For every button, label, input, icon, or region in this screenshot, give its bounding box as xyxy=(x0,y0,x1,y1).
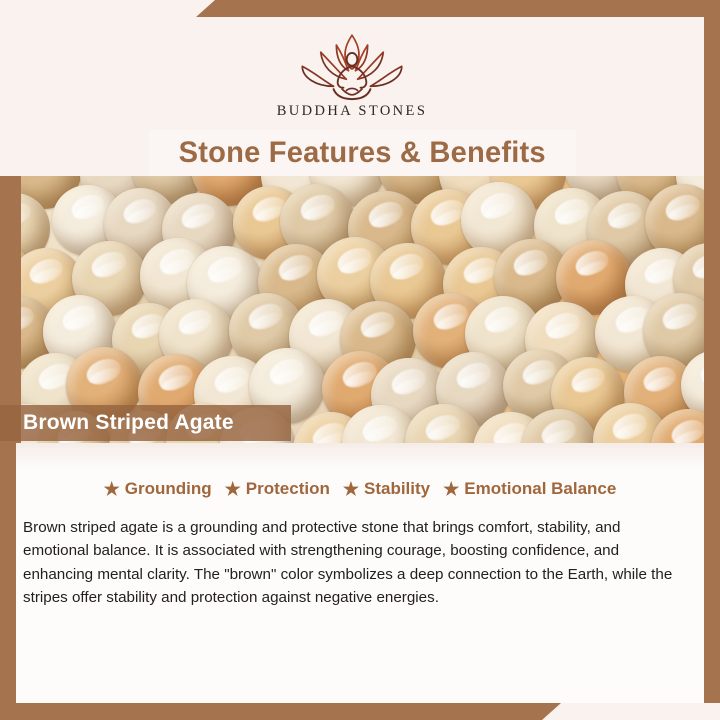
panel-top-fade xyxy=(16,443,704,469)
page-title: Stone Features & Benefits xyxy=(179,136,546,170)
star-icon: ★ xyxy=(343,480,359,498)
benefit-item: ★Emotional Balance xyxy=(443,479,616,499)
content-left-accent xyxy=(0,443,16,703)
stone-name: Brown Striped Agate xyxy=(23,411,234,435)
bottom-accent-banner xyxy=(0,703,561,720)
content-right-accent xyxy=(704,443,720,703)
benefit-item: ★Grounding xyxy=(104,479,212,499)
top-accent-banner xyxy=(196,0,720,17)
photo-left-accent-bar xyxy=(0,176,21,443)
brand-header: BUDDHA STONES xyxy=(0,17,704,130)
title-banner: Stone Features & Benefits xyxy=(149,130,576,176)
stone-description: Brown striped agate is a grounding and p… xyxy=(23,516,676,610)
benefit-label: Stability xyxy=(364,479,430,499)
content-panel: ★Grounding★Protection★Stability★Emotiona… xyxy=(16,443,704,703)
lotus-meditation-icon xyxy=(281,29,423,101)
infographic-page: BUDDHA STONES Stone Features & Benefits … xyxy=(0,0,720,720)
benefit-item: ★Protection xyxy=(225,479,330,499)
benefit-label: Protection xyxy=(246,479,330,499)
benefit-label: Grounding xyxy=(125,479,212,499)
star-icon: ★ xyxy=(443,480,459,498)
brand-name: BUDDHA STONES xyxy=(277,103,428,120)
benefit-item: ★Stability xyxy=(343,479,430,499)
stone-name-band: Brown Striped Agate xyxy=(0,405,291,441)
benefits-list: ★Grounding★Protection★Stability★Emotiona… xyxy=(16,479,704,499)
benefit-label: Emotional Balance xyxy=(464,479,616,499)
bead-texture xyxy=(0,176,704,443)
star-icon: ★ xyxy=(104,480,120,498)
stone-photo xyxy=(0,176,704,443)
star-icon: ★ xyxy=(225,480,241,498)
